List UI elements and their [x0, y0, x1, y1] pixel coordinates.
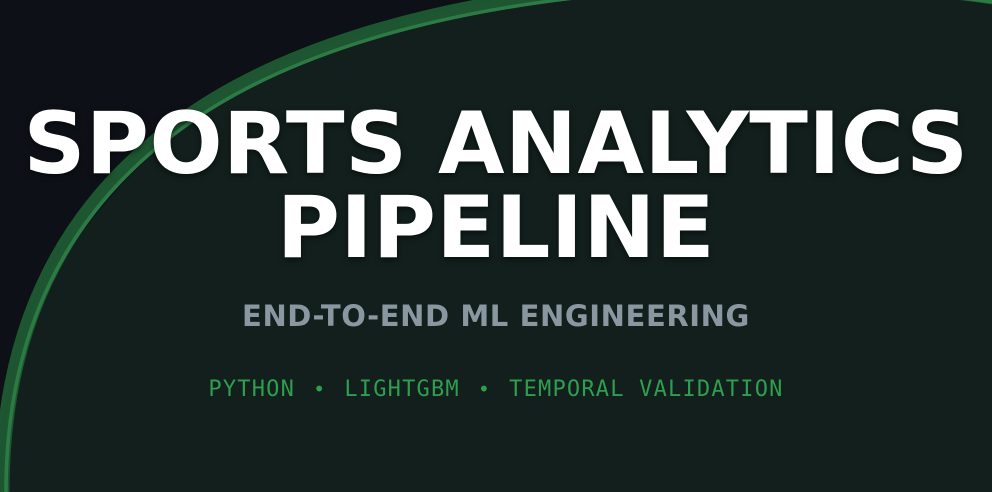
title-banner: SPORTS ANALYTICS PIPELINE END-TO-END ML … [0, 0, 992, 492]
arc-inner-field [0, 0, 992, 492]
decorative-arc-graphic [0, 0, 992, 492]
